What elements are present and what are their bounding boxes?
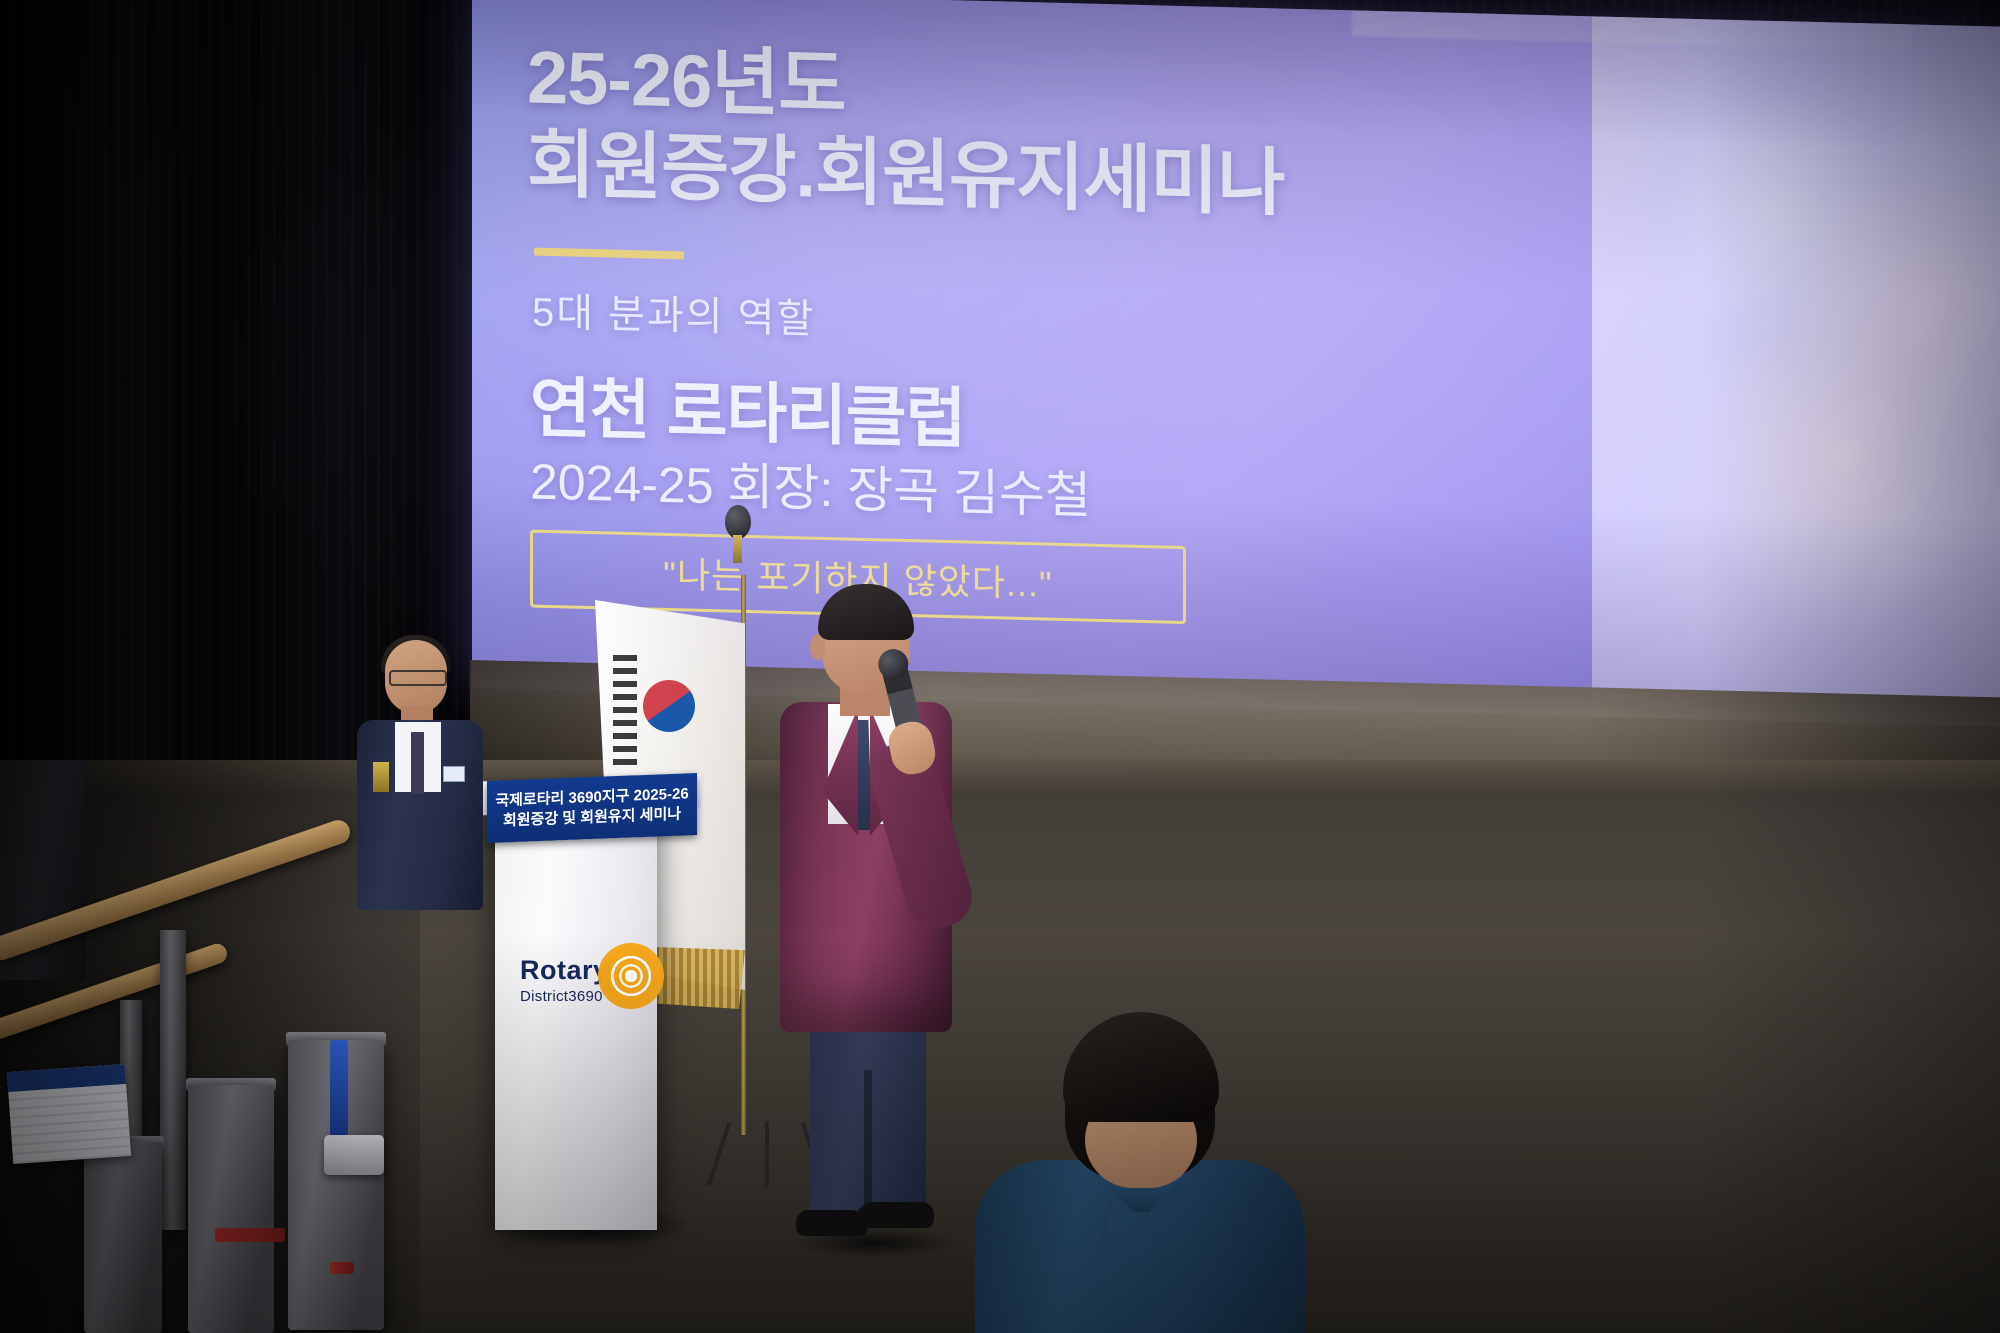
rotary-wheel-icon	[600, 945, 662, 1007]
speaker-shoe-right	[856, 1202, 934, 1228]
control-device	[324, 1135, 384, 1175]
audience-hair	[1063, 1012, 1219, 1122]
podium-sign: 국제로타리 3690지구 2025-26 회원증강 및 회원유지 세미나	[487, 773, 697, 843]
podium	[495, 800, 657, 1230]
equipment-case-3	[84, 1142, 162, 1333]
slide-president-line: 2024-25 회장: 장곡 김수철	[530, 441, 1091, 527]
presenting-speaker	[770, 590, 960, 1250]
korean-flag-stand	[735, 505, 751, 1065]
attendee-ribbon	[373, 762, 389, 792]
photo-scene: 25-26년도 회원증강.회원유지세미나 5대 분과의 역할 연천 로타리클럽 …	[0, 0, 2000, 1333]
slide-title: 25-26년도 회원증강.회원유지세미나	[527, 33, 1427, 230]
standing-attendee	[355, 640, 485, 900]
notice-placard-body	[8, 1084, 131, 1164]
equipment-blue-stripe	[330, 1040, 348, 1136]
speaker-hair	[818, 584, 914, 640]
flag-finial-icon	[725, 505, 751, 539]
attendee-name-badge	[443, 766, 465, 782]
taeguk-icon	[643, 680, 695, 732]
equipment-case-2	[188, 1085, 274, 1333]
equipment-red-stripe-2	[330, 1262, 354, 1274]
attendee-tie	[411, 732, 424, 794]
equipment-red-stripe-1	[215, 1228, 285, 1242]
slide-subtitle: 5대 분과의 역할	[532, 280, 815, 345]
seated-audience-member	[975, 1020, 1305, 1333]
handrail-post-1	[160, 930, 186, 1230]
speaker-trousers	[810, 1010, 926, 1225]
flag-trigram-bars	[613, 655, 637, 765]
notice-placard	[7, 1064, 131, 1164]
glasses-icon	[389, 670, 447, 686]
